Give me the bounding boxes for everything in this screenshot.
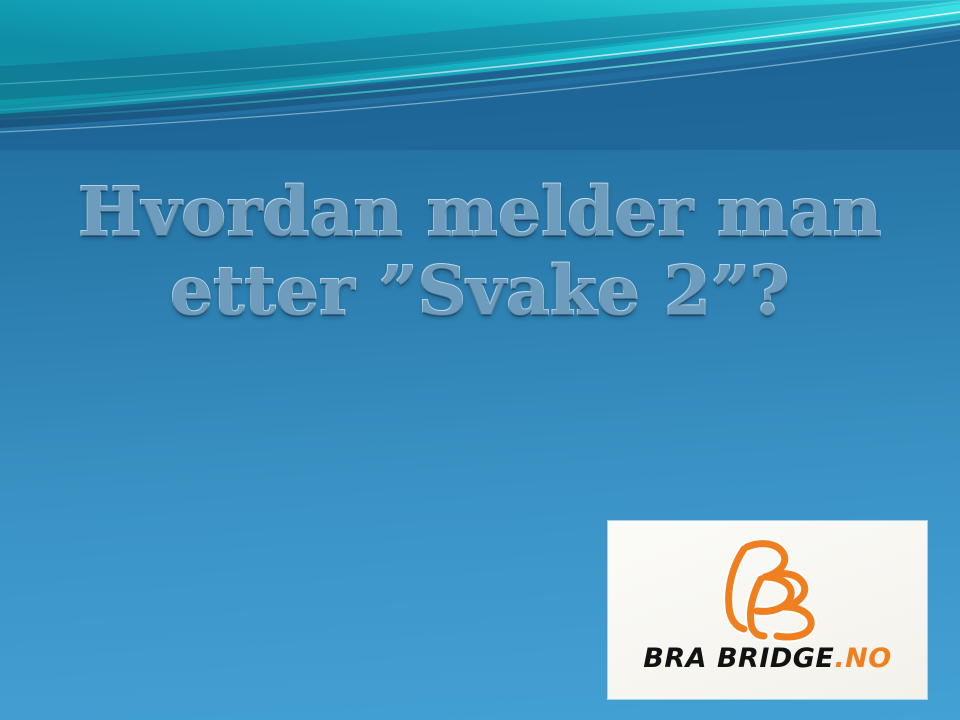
slide-title-line-1: Hvordan melder man [0,178,960,245]
bb-script-monogram-icon [703,535,833,643]
slide-title-line-2: etter ”Svake 2”? [0,257,960,324]
presentation-slide: Hvordan melder man etter ”Svake 2”? [0,0,960,720]
bra-bridge-logo: BRA BRIDGE.NO [608,521,927,699]
logo-wordmark-primary: BRA BRIDGE [643,643,834,674]
logo-wordmark: BRA BRIDGE.NO [643,645,891,672]
logo-wordmark-suffix: .NO [834,643,891,674]
logo-inner: BRA BRIDGE.NO [608,521,927,699]
slide-title: Hvordan melder man etter ”Svake 2”? [0,178,960,324]
flow-wave-decoration [0,0,960,150]
